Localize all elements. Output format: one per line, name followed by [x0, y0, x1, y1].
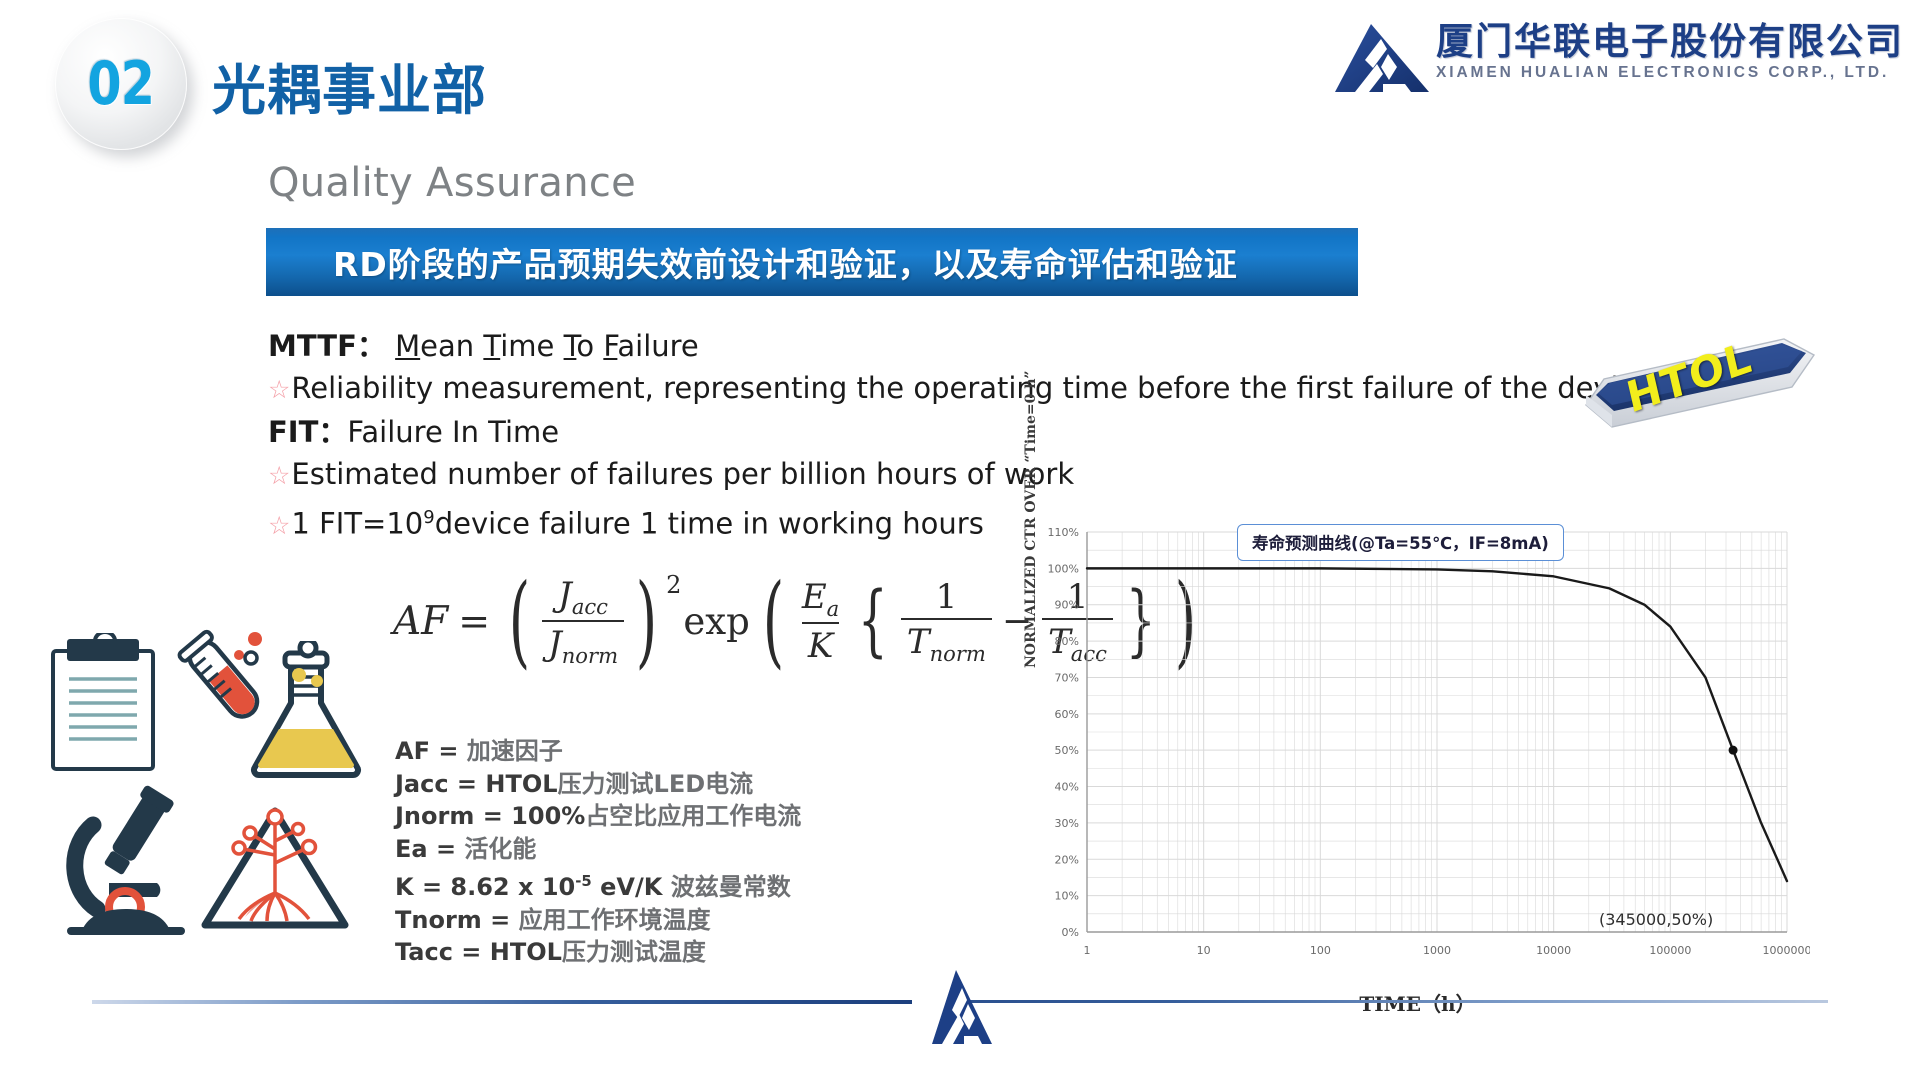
legend-key: K = 8.62 x 10: [395, 873, 575, 901]
chart-x-tick: 100: [1310, 944, 1331, 957]
fit-label: FIT：: [268, 415, 347, 449]
formula-equals: =: [458, 599, 490, 643]
legend-cn: 压力测试LED电流: [558, 770, 754, 798]
mttf-ean: ean: [420, 329, 483, 363]
bullet-3-exponent: 9: [423, 507, 434, 528]
slide-root: 02 光耦事业部 厦门华联电子股份有限公司 XIAMEN HUALIAN ELE…: [0, 0, 1920, 1080]
formula-jacc: Jacc: [552, 575, 614, 620]
section-banner: RD阶段的产品预期失效前设计和验证，以及寿命评估和验证: [266, 228, 1358, 296]
formula-af: AF: [393, 599, 448, 644]
formula-tnorm: Tnorm: [901, 618, 992, 666]
hl-logo-icon: [1325, 22, 1430, 94]
mttf-ailure: ailure: [617, 329, 698, 363]
experiment-tree-icon: [195, 775, 355, 935]
htol-chip: HTOL: [1578, 333, 1818, 443]
chart-y-tick: 110%: [1048, 526, 1079, 539]
legend-cn: 波兹曼常数: [671, 873, 791, 901]
star-bullet-icon: ☆: [268, 461, 290, 490]
mttf-m: M: [395, 329, 420, 363]
brace-open-icon: {: [858, 593, 888, 649]
formula-exp: exp: [683, 600, 749, 643]
chart-x-tick: 1000000: [1763, 944, 1811, 957]
formula-jacc-over-jnorm: Jacc Jnorm: [542, 575, 624, 668]
legend-cn: 加速因子: [467, 737, 563, 765]
fit-line: FIT：Failure In Time: [268, 411, 1518, 453]
bullet-3-pre: 1 FIT=10: [291, 507, 423, 541]
chart-y-tick: 70%: [1055, 671, 1079, 684]
legend-key2: eV/K: [592, 873, 671, 901]
star-bullet-icon: ☆: [268, 375, 290, 404]
formula-jnorm: Jnorm: [542, 620, 624, 668]
mttf-t2: T: [564, 329, 577, 363]
chart-y-tick: 50%: [1055, 744, 1079, 757]
formula-legend-row: Tacc = HTOL压力测试温度: [395, 936, 801, 969]
chart-y-tick: 60%: [1055, 708, 1079, 721]
chart-x-tick: 10000: [1536, 944, 1571, 957]
chart-y-tick: 100%: [1048, 562, 1079, 575]
mttf-label: MTTF：: [268, 329, 386, 363]
bullet-3-post: device failure 1 time in working hours: [435, 507, 984, 541]
chart-y-tick: 80%: [1055, 635, 1079, 648]
formula-ea-over-k: Ea K: [796, 577, 845, 666]
formula-power: 2: [666, 571, 681, 599]
footer-rule-left: [92, 1000, 912, 1004]
chart-x-tick: 1000: [1423, 944, 1451, 957]
paren-open-2-icon: (: [763, 585, 784, 657]
section-number-badge: 02: [55, 18, 187, 150]
footer-rule-right: [948, 1000, 1828, 1003]
slide-footer: [0, 978, 1920, 1038]
chart-x-tick: 1: [1084, 944, 1091, 957]
legend-key: AF =: [395, 737, 467, 765]
chart-x-tick: 100000: [1649, 944, 1691, 957]
chart-y-tick: 0%: [1062, 926, 1079, 939]
formula-legend-row: Tnorm = 应用工作环境温度: [395, 904, 801, 937]
logo-text-block: 厦门华联电子股份有限公司 XIAMEN HUALIAN ELECTRONICS …: [1436, 22, 1904, 82]
chart-y-tick: 40%: [1055, 781, 1079, 794]
chart-x-tick: 10: [1197, 944, 1211, 957]
chart-annotation: (345000,50%): [1599, 910, 1713, 929]
bullet-line-1: ☆Reliability measurement, representing t…: [268, 367, 1518, 411]
bullet-2-text: Estimated number of failures per billion…: [291, 457, 1074, 491]
flask-icon: [241, 641, 371, 781]
formula-legend-list: AF = 加速因子Jacc = HTOL压力测试LED电流Jnorm = 100…: [395, 735, 801, 969]
definitions-block: MTTF： Mean Time To Failure ☆Reliability …: [268, 325, 1518, 547]
section-heading: Quality Assurance: [268, 160, 636, 206]
legend-cn: 应用工作环境温度: [519, 906, 711, 934]
formula-legend-row: Jnorm = 100%占空比应用工作电流: [395, 800, 801, 833]
bullet-1-text: Reliability measurement, representing th…: [291, 371, 1652, 405]
legend-key: Ea =: [395, 835, 464, 863]
clipboard-icon: [45, 633, 165, 773]
chart-plot-area: 0%10%20%30%40%50%60%70%80%90%100%110%110…: [1025, 518, 1810, 1018]
formula-one-a: 1: [930, 577, 964, 618]
star-bullet-icon: ☆: [268, 511, 290, 540]
logo-company-en: XIAMEN HUALIAN ELECTRONICS CORP., LTD.: [1436, 64, 1904, 82]
mttf-f: F: [603, 329, 617, 363]
formula-legend-row: Ea = 活化能: [395, 833, 801, 866]
chart-data-point-marker: [1729, 746, 1738, 755]
company-logo: 厦门华联电子股份有限公司 XIAMEN HUALIAN ELECTRONICS …: [1325, 22, 1904, 94]
legend-key: Jnorm = 100%: [395, 802, 585, 830]
chart-y-tick: 30%: [1055, 817, 1079, 830]
section-number: 02: [88, 49, 155, 119]
fit-expansion: Failure In Time: [347, 415, 559, 449]
bullet-line-2: ☆Estimated number of failures per billio…: [268, 453, 1518, 497]
chart-y-tick: 10%: [1055, 890, 1079, 903]
mttf-o: o: [576, 329, 603, 363]
legend-key: Tnorm =: [395, 906, 519, 934]
formula-one-over-tnorm: 1 Tnorm: [901, 577, 992, 666]
lifetime-prediction-chart: NORMALIZED CTR OVER “Time=0 h” 0%10%20%3…: [1025, 518, 1810, 1018]
chart-legend: 寿命预测曲线(@Ta=55℃，IF=8mA): [1237, 524, 1564, 561]
legend-cn: 压力测试温度: [562, 938, 706, 966]
hl-footer-logo-icon: [926, 970, 994, 1046]
legend-key: Jacc = HTOL: [395, 770, 558, 798]
legend-cn: 活化能: [464, 835, 536, 863]
formula-legend-row: Jacc = HTOL压力测试LED电流: [395, 768, 801, 801]
formula-legend-row: K = 8.62 x 10-5 eV/K 波兹曼常数: [395, 865, 801, 904]
section-banner-text: RD阶段的产品预期失效前设计和验证，以及寿命评估和验证: [266, 238, 1238, 286]
chart-y-axis-label: NORMALIZED CTR OVER “Time=0 h”: [1023, 371, 1039, 668]
paren-open-icon: (: [509, 585, 530, 657]
lab-icon-group: [45, 625, 355, 945]
formula-ea: Ea: [796, 577, 845, 622]
microscope-icon: [51, 785, 201, 935]
page-title: 光耦事业部: [212, 46, 487, 125]
mttf-ime: ime: [500, 329, 563, 363]
legend-cn: 占空比应用工作电流: [585, 802, 801, 830]
mttf-line: MTTF： Mean Time To Failure: [268, 325, 1518, 367]
paren-close-icon: ): [636, 585, 657, 657]
mttf-t1: T: [483, 329, 500, 363]
formula-k: K: [802, 622, 839, 666]
legend-sup: -5: [575, 872, 592, 890]
legend-key: Tacc = HTOL: [395, 938, 562, 966]
chart-y-tick: 20%: [1055, 853, 1079, 866]
chart-y-tick: 90%: [1055, 599, 1079, 612]
logo-company-cn: 厦门华联电子股份有限公司: [1436, 23, 1904, 62]
formula-legend-row: AF = 加速因子: [395, 735, 801, 768]
